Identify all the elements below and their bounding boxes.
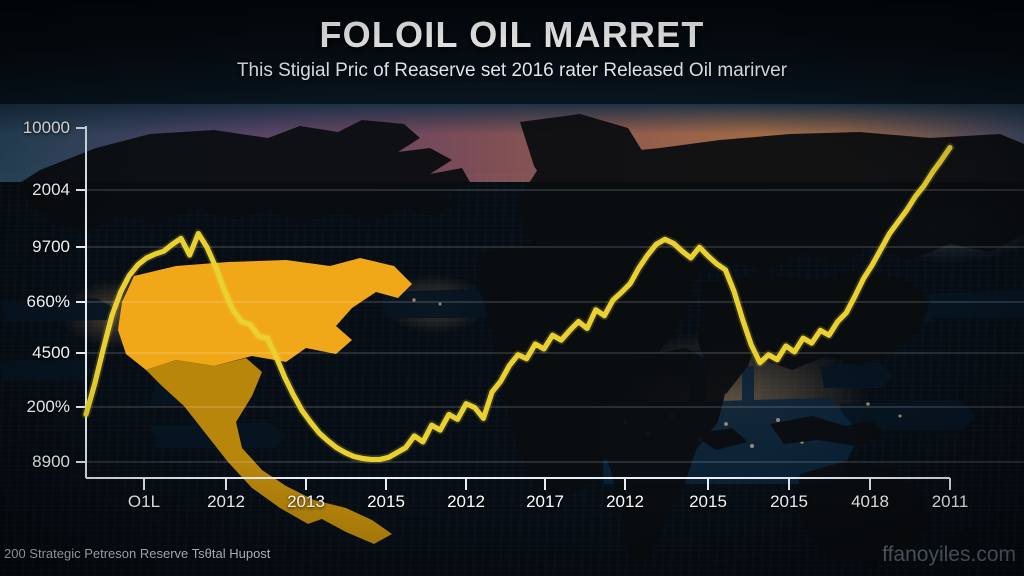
x-axis-tick-label: O1L	[104, 492, 184, 512]
y-axis-tick-label: 10000	[0, 118, 70, 138]
y-axis-tick-label: 2004	[0, 180, 70, 200]
y-axis-tick-label: 4500	[0, 343, 70, 363]
page-title: FOLOIL OIL MARRET	[0, 14, 1024, 56]
chart-header: FOLOIL OIL MARRET This Stigial Pric of R…	[0, 0, 1024, 104]
x-axis-tick-label: 2012	[426, 492, 506, 512]
page-subtitle: This Stigial Pric of Reaserve set 2016 r…	[0, 60, 1024, 82]
x-axis-tick-label: 2011	[910, 492, 990, 512]
y-axis-tick-label: 200%	[0, 397, 70, 417]
x-axis-tick-label: 2012	[186, 492, 266, 512]
x-axis-ticks	[144, 478, 950, 490]
x-axis-tick-label: 2012	[585, 492, 665, 512]
series-line-oil-price	[86, 148, 950, 460]
x-axis-tick-label: 2017	[505, 492, 585, 512]
x-axis-tick-label: 4018	[830, 492, 910, 512]
x-axis-tick-label: 2015	[668, 492, 748, 512]
y-axis-tick-label: 8900	[0, 452, 70, 472]
x-axis-tick-label: 2015	[346, 492, 426, 512]
gridlines	[86, 190, 1024, 462]
site-watermark: ffanoyiles.com	[882, 543, 1016, 567]
x-axis-tick-label: 2015	[749, 492, 829, 512]
y-axis-tick-label: 660%	[0, 292, 70, 312]
y-axis-tick-label: 9700	[0, 237, 70, 257]
source-caption: 200 Strategic Petreson Reserve Tsθtal Hu…	[4, 546, 270, 561]
chart-screenshot: 1000020049700660%4500200%8900 O1L2012201…	[0, 0, 1024, 576]
series-line-glow	[86, 148, 950, 460]
x-axis-tick-label: 2013	[266, 492, 346, 512]
